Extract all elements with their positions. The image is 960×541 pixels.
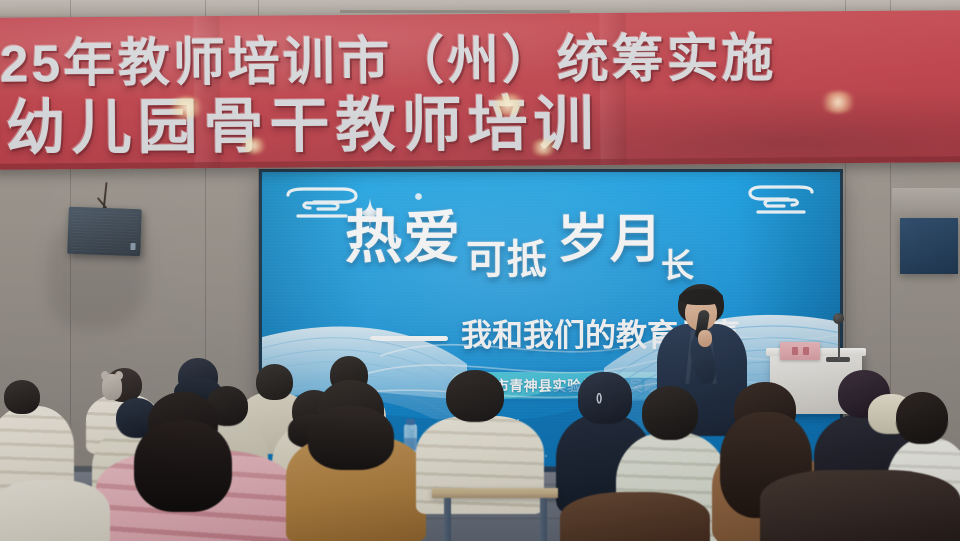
audience-hair — [308, 406, 394, 470]
photo-scene: 热爱 可抵 岁月 长 我和我们的教育故事 眉山市青神县实验幼儿园 吴霞 — [0, 0, 960, 541]
audience-head — [642, 386, 698, 440]
plush-ear — [101, 371, 109, 380]
audience-person-bottom-mid — [560, 492, 710, 541]
audience-person-bottom-left — [0, 470, 110, 541]
presenter-fringe — [679, 289, 723, 305]
desk-leg — [444, 498, 451, 541]
audience-head — [4, 380, 40, 414]
wall-monitor — [900, 218, 958, 274]
audience-coat — [0, 480, 110, 541]
banner-line-2: 0幼儿园骨干教师培训 — [0, 88, 960, 162]
audience-person-front-tan — [286, 380, 426, 540]
name-card-glyph — [803, 347, 809, 355]
gooseneck-microphone-icon — [833, 313, 844, 324]
banner-line-1: 025年教师培训市（州）统筹实施 — [0, 28, 960, 94]
audience-person-front-pink — [96, 392, 296, 541]
desk-leg — [540, 498, 547, 541]
audience-hair — [760, 470, 960, 541]
podium-name-card — [780, 342, 820, 360]
cap-logo-icon: () — [596, 392, 601, 404]
name-card-glyph — [792, 347, 798, 355]
podium-mic-stand — [838, 318, 840, 360]
desk-front-right — [432, 488, 558, 498]
presenter-hand — [698, 330, 712, 347]
wall-speaker — [67, 207, 142, 257]
event-banner: 025年教师培训市（州）统筹实施 0幼儿园骨干教师培训 — [0, 10, 960, 170]
coat-quilting — [416, 416, 544, 514]
audience-head — [896, 392, 948, 444]
ceiling-seam — [340, 10, 570, 13]
speaker-badge-icon — [130, 243, 135, 250]
audience-head — [446, 370, 504, 422]
ceiling-soffit — [892, 188, 960, 214]
audience-hair — [560, 492, 710, 541]
audience-coat — [416, 416, 544, 514]
audience-person-bottom-right — [760, 470, 960, 541]
audience-hair — [134, 420, 232, 512]
plush-ear — [115, 371, 123, 380]
speaker-grill — [70, 210, 138, 253]
